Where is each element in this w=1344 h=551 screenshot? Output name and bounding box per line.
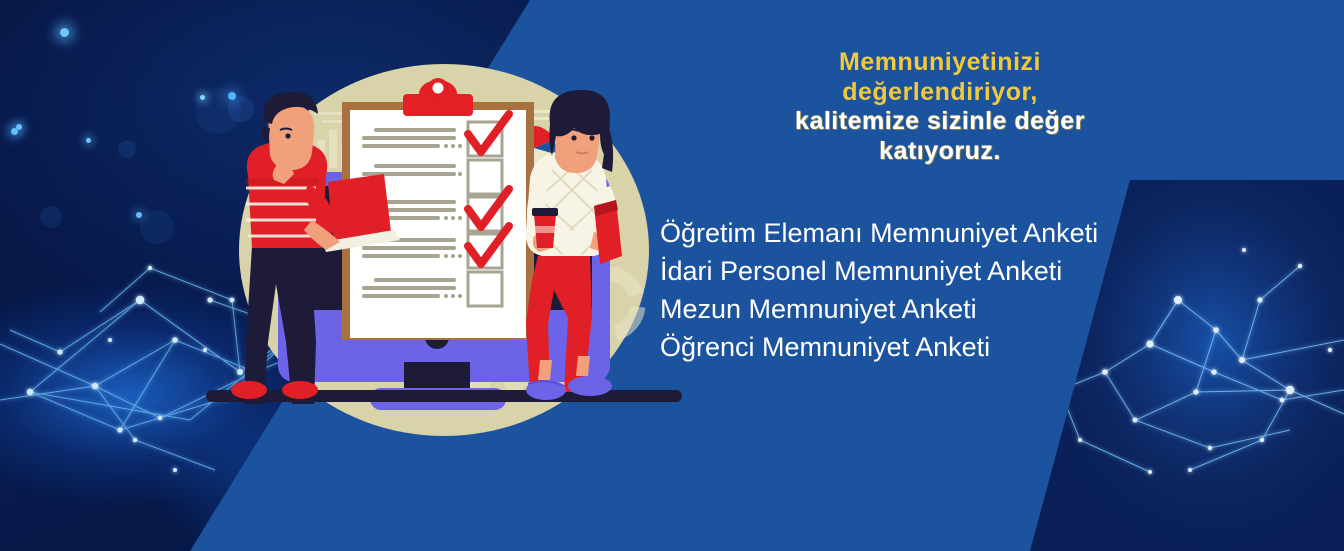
survey-item-ogrenci[interactable]: Öğrenci Memnuniyet Anketi	[660, 328, 1300, 366]
ground-bar	[206, 390, 682, 402]
survey-item-mezun[interactable]: Mezun Memnuniyet Anketi	[660, 290, 1300, 328]
headline-line-2: değerlendiriyor,	[640, 78, 1240, 108]
headline-line-3: kalitemize sizinle değer	[640, 107, 1240, 137]
survey-illustration	[222, 60, 666, 432]
survey-banner: Memnuniyetinizi değerlendiriyor, kalitem…	[0, 0, 1344, 551]
headline-line-4: katıyoruz.	[640, 137, 1240, 167]
survey-item-ogretim-elemani[interactable]: Öğretim Elemanı Memnuniyet Anketi	[660, 214, 1300, 252]
survey-link-list: Öğretim Elemanı Memnuniyet Anketi İdari …	[660, 214, 1300, 366]
headline-line-1: Memnuniyetinizi	[640, 48, 1240, 78]
survey-item-idari-personel[interactable]: İdari Personel Memnuniyet Anketi	[660, 252, 1300, 290]
shoe	[282, 381, 318, 399]
shoe	[231, 381, 267, 399]
shoe	[568, 376, 612, 396]
headline-block: Memnuniyetinizi değerlendiriyor, kalitem…	[640, 48, 1240, 166]
